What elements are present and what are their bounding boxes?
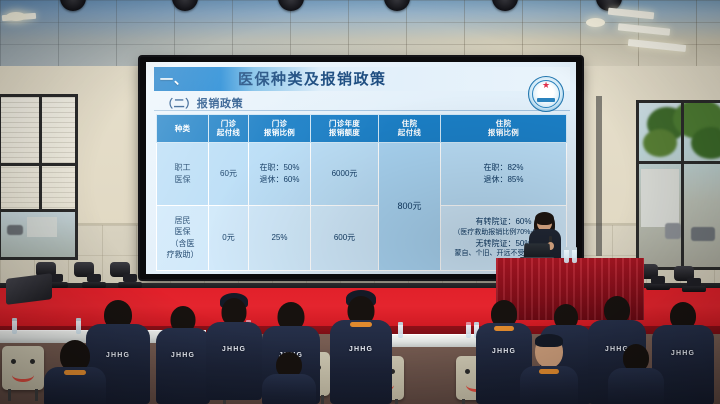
tree-foliage xyxy=(643,129,677,157)
window-mullion xyxy=(1,163,75,166)
window-mullion xyxy=(681,103,684,267)
scooter-outside xyxy=(7,225,23,235)
moving-stage-light xyxy=(118,262,142,288)
attendee xyxy=(262,352,316,404)
ceiling-dome-lamp xyxy=(586,18,605,27)
wall-edge-post xyxy=(596,96,602,256)
cell-outpatient-deductible-resident: 0元 xyxy=(209,205,249,270)
presenter-hair xyxy=(535,212,554,225)
th-outpatient-ratio: 门诊 报销比例 xyxy=(249,115,311,143)
cell-outpatient-deductible-employee: 60元 xyxy=(209,142,249,205)
th-inpatient-deductible: 住院 起付线 xyxy=(379,115,441,143)
right-window xyxy=(636,100,720,270)
attendee xyxy=(608,344,664,404)
scooter-outside xyxy=(665,223,681,239)
conference-hall-photo: 一、 医保种类及报销政策 （二）报销政策 ★ 种类 xyxy=(0,0,720,404)
smiley-chair xyxy=(2,346,44,390)
slide-subtitle: （二）报销政策 xyxy=(162,95,243,111)
table-header-row: 种类 门诊 起付线 门诊 报销比例 门诊年度 报销额度 xyxy=(157,115,567,143)
slide-title: 医保种类及报销政策 xyxy=(238,68,387,89)
left-window xyxy=(0,94,78,260)
water-bottle xyxy=(12,318,17,334)
table-row: 职工 医保 60元 在职：50% 退休：60% 6000元 800元 在职：82… xyxy=(157,142,567,205)
moving-stage-light xyxy=(682,266,706,292)
attendee: JHHG xyxy=(330,294,392,404)
cell-category-employee: 职工 医保 xyxy=(157,142,209,205)
emblem-ring xyxy=(532,80,560,108)
jacket-logo-text: JHHG xyxy=(156,352,210,359)
projection-screen: 一、 医保种类及报销政策 （二）报销政策 ★ 种类 xyxy=(146,62,576,274)
water-bottle xyxy=(398,322,403,338)
institution-emblem-icon: ★ xyxy=(528,76,564,112)
cell-category-resident: 居民 医保 （含医 疗救助） xyxy=(157,205,209,270)
th-category: 种类 xyxy=(157,115,209,143)
cell-outpatient-cap-employee: 6000元 xyxy=(311,142,379,205)
moving-stage-light xyxy=(82,262,106,288)
attendee xyxy=(520,336,578,404)
jacket-logo-text: JHHG xyxy=(206,346,262,353)
ceiling-dome-lamp xyxy=(6,12,26,21)
window-mullion xyxy=(639,161,720,164)
reimbursement-policy-table: 种类 门诊 起付线 门诊 报销比例 门诊年度 报销额度 xyxy=(156,114,567,271)
slide-divider xyxy=(154,110,570,111)
cell-outpatient-cap-resident: 600元 xyxy=(311,205,379,270)
building-outside xyxy=(641,169,679,227)
scooter-outside xyxy=(691,227,715,241)
slide-section-number: 一、 xyxy=(160,69,188,88)
water-bottle xyxy=(466,322,471,338)
th-inpatient-ratio: 住院 报销比例 xyxy=(441,115,567,143)
th-outpatient-deductible: 门诊 起付线 xyxy=(209,115,249,143)
attendee: JHHG xyxy=(206,296,262,404)
cell-outpatient-ratio-employee: 在职：50% 退休：60% xyxy=(249,142,311,205)
cell-inpatient-ratio-employee: 在职：82% 退休：85% xyxy=(441,142,567,205)
building-outside xyxy=(27,217,57,237)
attendee: JHHG xyxy=(156,306,210,404)
water-bottle xyxy=(76,318,81,334)
moving-stage-light xyxy=(646,264,670,290)
jacket-logo-text: JHHG xyxy=(330,346,392,353)
cell-outpatient-ratio-resident: 25% xyxy=(249,205,311,270)
attendee xyxy=(44,340,106,404)
water-bottle xyxy=(564,247,569,263)
cell-inpatient-deductible-shared: 800元 xyxy=(379,142,441,270)
presentation-slide: 一、 医保种类及报销政策 （二）报销政策 ★ 种类 xyxy=(146,62,576,274)
th-outpatient-annual-cap: 门诊年度 报销额度 xyxy=(311,115,379,143)
water-bottle xyxy=(572,247,577,263)
emblem-bar xyxy=(537,98,555,102)
